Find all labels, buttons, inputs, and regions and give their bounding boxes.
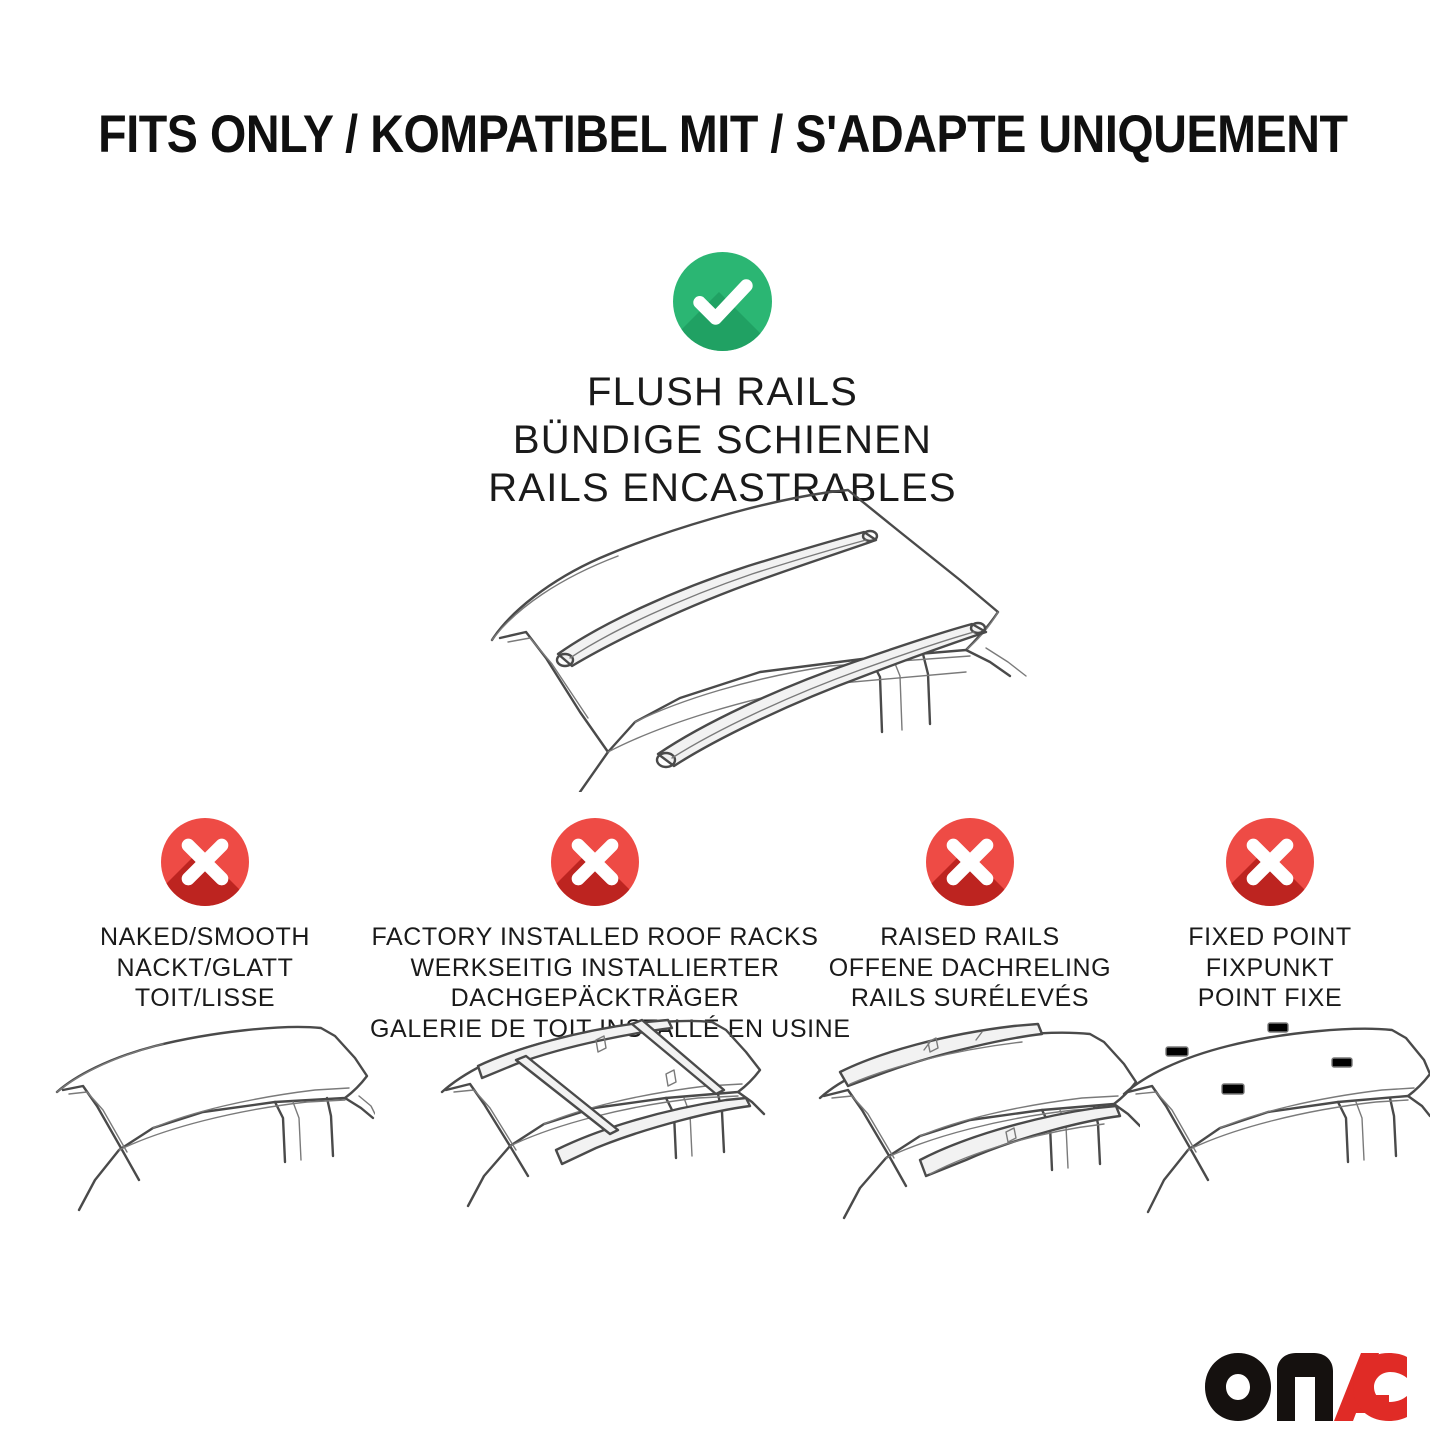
incompatible-label-3-line-3: RAILS SURÉLEVÉS (810, 983, 1130, 1014)
car-roof-raised-rails-illustration (800, 1014, 1140, 1234)
cross-glyph (161, 818, 249, 906)
incompatible-label-2-line-2: WERKSEITIG INSTALLIERTER (370, 953, 820, 984)
page-title-text: FITS ONLY / KOMPATIBEL MIT / S'ADAPTE UN… (98, 104, 1347, 165)
car-roof-factory-racks-illustration (420, 996, 770, 1231)
omac-logo-mark (1203, 1351, 1409, 1423)
incompatible-label-4-line-2: FIXPUNKT (1120, 953, 1420, 984)
incompatible-label-1: NAKED/SMOOTH NACKT/GLATT TOIT/LISSE (40, 922, 370, 1014)
cross-badge-wrap-2 (370, 818, 820, 916)
incompatible-label-1-line-1: NAKED/SMOOTH (40, 922, 370, 953)
cross-glyph (1226, 818, 1314, 906)
cross-circle-icon (161, 818, 249, 906)
car-roof-flush-rails-illustration (430, 462, 1050, 792)
compatible-label-line-1: FLUSH RAILS (0, 368, 1445, 416)
incompatible-item-factory-racks: FACTORY INSTALLED ROOF RACKS WERKSEITIG … (370, 818, 820, 1044)
incompatible-label-1-line-3: TOIT/LISSE (40, 983, 370, 1014)
incompatible-label-4: FIXED POINT FIXPUNKT POINT FIXE (1120, 922, 1420, 1014)
cross-badge-wrap-4 (1120, 818, 1420, 916)
incompatible-label-3: RAISED RAILS OFFENE DACHRELING RAILS SUR… (810, 922, 1130, 1014)
compatibility-infographic: FITS ONLY / KOMPATIBEL MIT / S'ADAPTE UN… (0, 0, 1445, 1445)
incompatible-section: NAKED/SMOOTH NACKT/GLATT TOIT/LISSE (0, 818, 1445, 1248)
car-roof-fixed-point-illustration (1110, 1014, 1430, 1231)
incompatible-label-1-line-2: NACKT/GLATT (40, 953, 370, 984)
cross-circle-icon (1226, 818, 1314, 906)
cross-badge-wrap-3 (810, 818, 1130, 916)
incompatible-label-3-line-2: OFFENE DACHRELING (810, 953, 1130, 984)
car-roof-naked-illustration (35, 1014, 375, 1229)
compatible-label-line-2: BÜNDIGE SCHIENEN (0, 416, 1445, 464)
incompatible-label-2-line-1: FACTORY INSTALLED ROOF RACKS (370, 922, 820, 953)
incompatible-label-4-line-1: FIXED POINT (1120, 922, 1420, 953)
cross-glyph (551, 818, 639, 906)
incompatible-label-4-line-3: POINT FIXE (1120, 983, 1420, 1014)
cross-glyph (926, 818, 1014, 906)
cross-circle-icon (551, 818, 639, 906)
incompatible-item-naked-smooth: NAKED/SMOOTH NACKT/GLATT TOIT/LISSE (40, 818, 370, 1014)
check-circle-icon (673, 252, 772, 351)
incompatible-label-3-line-1: RAISED RAILS (810, 922, 1130, 953)
incompatible-item-raised-rails: RAISED RAILS OFFENE DACHRELING RAILS SUR… (810, 818, 1130, 1014)
page-title: FITS ONLY / KOMPATIBEL MIT / S'ADAPTE UN… (0, 104, 1445, 165)
cross-badge-wrap-1 (40, 818, 370, 916)
cross-circle-icon (926, 818, 1014, 906)
incompatible-item-fixed-point: FIXED POINT FIXPUNKT POINT FIXE (1120, 818, 1420, 1014)
omac-logo (1203, 1351, 1409, 1423)
check-glyph (673, 252, 772, 351)
